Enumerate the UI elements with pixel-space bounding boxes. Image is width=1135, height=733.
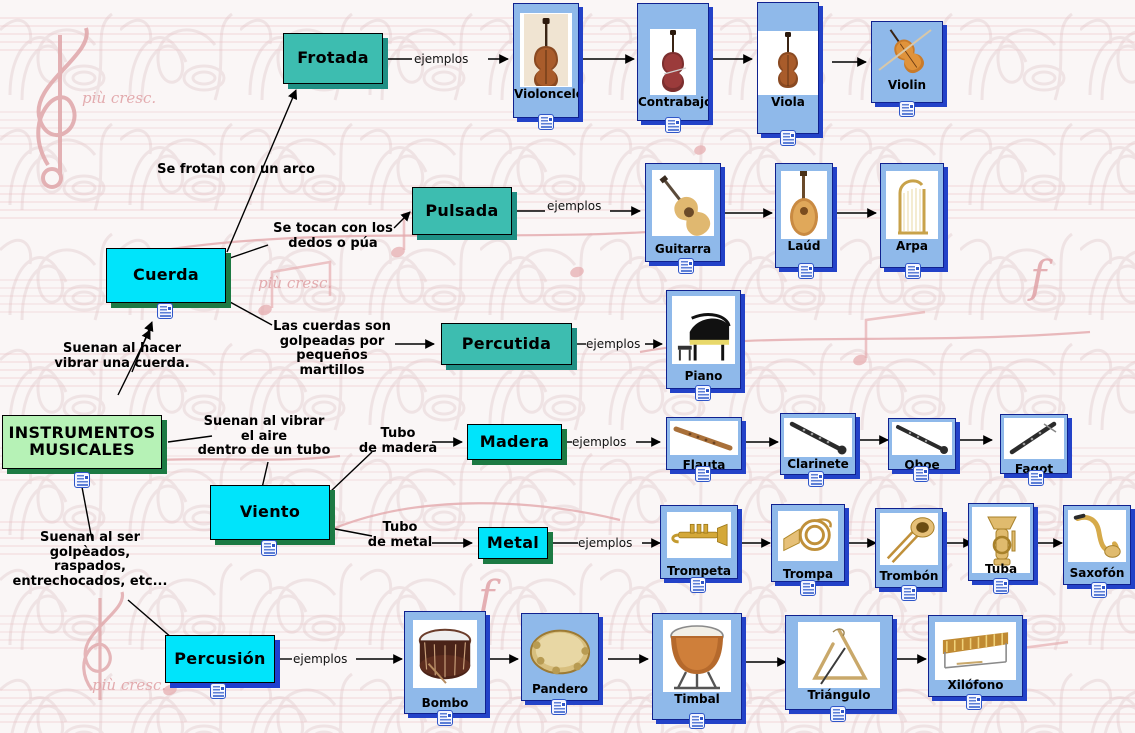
link-label-aire: Suenan al vibrar el aire dentro de un tu… — [196, 415, 332, 459]
flute-image — [670, 421, 738, 455]
card-caption: Timbal — [653, 692, 741, 708]
card-triangulo[interactable]: Triángulo — [785, 615, 893, 710]
card-flauta[interactable]: Flauta — [666, 417, 742, 470]
card-trombon[interactable]: Trombón — [875, 508, 943, 588]
harp-image — [886, 171, 938, 239]
node-frotada[interactable]: Frotada — [283, 33, 383, 84]
oboe-image — [892, 422, 952, 455]
node-label: Frotada — [293, 50, 373, 67]
svg-text:più cresc.: più cresc. — [92, 676, 166, 694]
link-label-percusion: Suenan al ser golpèados, raspados, entre… — [6, 531, 174, 589]
node-instrumentos-musicales[interactable]: INSTRUMENTOS MUSICALES — [2, 415, 162, 469]
note-document-icon[interactable] — [913, 466, 929, 482]
guitar-image — [652, 170, 714, 236]
note-document-icon[interactable] — [798, 263, 814, 279]
note-document-icon[interactable] — [74, 472, 90, 488]
card-caption: Saxofón — [1064, 566, 1130, 582]
card-trompeta[interactable]: Trompeta — [660, 505, 738, 579]
bass-drum-image — [413, 620, 477, 688]
note-document-icon[interactable] — [689, 713, 705, 729]
card-clarinete[interactable]: Clarinete — [780, 413, 856, 475]
card-caption: Tuba — [969, 562, 1033, 578]
note-document-icon[interactable] — [780, 130, 796, 146]
node-metal[interactable]: Metal — [478, 527, 548, 559]
note-document-icon[interactable] — [808, 471, 824, 487]
node-madera[interactable]: Madera — [467, 424, 562, 460]
node-percutida[interactable]: Percutida — [441, 323, 572, 365]
node-percusion[interactable]: Percusión — [165, 635, 275, 683]
note-document-icon[interactable] — [966, 694, 982, 710]
card-caption: Contrabajo — [638, 95, 708, 111]
note-document-icon[interactable] — [261, 540, 277, 556]
trombone-image — [880, 513, 938, 565]
card-trompa[interactable]: Trompa — [771, 504, 845, 582]
node-label: INSTRUMENTOS MUSICALES — [3, 425, 161, 459]
note-document-icon[interactable] — [690, 577, 706, 593]
double-bass-image — [650, 29, 696, 95]
note-document-icon[interactable] — [993, 578, 1009, 594]
node-label: Metal — [483, 535, 543, 552]
svg-text:più cresc.: più cresc. — [82, 89, 156, 107]
violoncello-image — [520, 13, 572, 87]
card-caption: Xilófono — [929, 678, 1022, 694]
concept-map-canvas: più cresc. più cresc. più cresc. cresc. … — [0, 0, 1135, 733]
card-caption: Violin — [872, 78, 942, 94]
card-arpa[interactable]: Arpa — [880, 163, 944, 268]
note-document-icon[interactable] — [437, 710, 453, 726]
link-label-martillos: Las cuerdas son golpeadas por pequeños m… — [262, 320, 402, 378]
card-viola[interactable]: Viola — [757, 2, 819, 134]
card-guitarra[interactable]: Guitarra — [645, 163, 721, 262]
card-caption: Triángulo — [786, 688, 892, 704]
note-document-icon[interactable] — [899, 101, 915, 117]
card-contrabajo[interactable]: Contrabajo — [637, 3, 709, 121]
grand-piano-image — [672, 296, 735, 364]
link-label-cuerda: Suenan al hacer vibrar una cuerda. — [52, 342, 192, 371]
ejemplos-label-percutida: ejemplos — [586, 337, 640, 351]
note-document-icon[interactable] — [551, 699, 567, 715]
card-caption: Violoncelo — [514, 87, 578, 103]
card-laud[interactable]: Laúd — [775, 163, 833, 268]
ejemplos-label-frotada: ejemplos — [414, 52, 468, 66]
link-label-arco: Se frotan con un arco — [156, 163, 316, 178]
ejemplos-label-metal: ejemplos — [578, 536, 632, 550]
triangle-instrument-image — [798, 622, 880, 688]
card-caption: Pandero — [522, 682, 598, 698]
saxophone-image — [1068, 510, 1126, 562]
card-caption: Trombón — [876, 569, 942, 585]
note-document-icon[interactable] — [901, 585, 917, 601]
card-xilofono[interactable]: Xilófono — [928, 615, 1023, 697]
card-caption: Viola — [758, 95, 818, 111]
card-timbal[interactable]: Timbal — [652, 613, 742, 720]
node-label: Pulsada — [421, 203, 502, 220]
note-document-icon[interactable] — [157, 303, 173, 319]
node-viento[interactable]: Viento — [210, 485, 330, 540]
card-violoncelo[interactable]: Violoncelo — [513, 3, 579, 118]
note-document-icon[interactable] — [538, 114, 554, 130]
note-document-icon[interactable] — [665, 117, 681, 133]
card-saxofon[interactable]: Saxofón — [1063, 505, 1131, 585]
node-cuerda[interactable]: Cuerda — [106, 248, 226, 303]
trumpet-image — [667, 512, 731, 558]
node-label: Cuerda — [129, 267, 203, 284]
french-horn-image — [778, 511, 838, 561]
card-caption: Arpa — [881, 239, 943, 255]
ejemplos-label-madera: ejemplos — [572, 435, 626, 449]
timpani-image — [663, 620, 731, 692]
lute-image — [781, 171, 827, 239]
svg-text:f: f — [1027, 252, 1053, 303]
link-label-tubo-metal: Tubo de metal — [362, 521, 438, 550]
card-fagot[interactable]: Fagot — [1000, 414, 1068, 474]
card-pandero[interactable]: Pandero — [521, 613, 599, 701]
node-label: Viento — [236, 504, 304, 521]
card-oboe[interactable]: Oboe — [888, 418, 956, 470]
node-pulsada[interactable]: Pulsada — [412, 187, 512, 235]
card-caption: Laúd — [776, 239, 832, 255]
tambourine-image — [527, 619, 593, 683]
ejemplos-label-pulsada: ejemplos — [547, 199, 601, 213]
note-document-icon[interactable] — [678, 258, 694, 274]
card-caption: Piano — [667, 369, 740, 385]
node-label: Madera — [476, 434, 554, 451]
card-piano[interactable]: Piano — [666, 290, 741, 389]
card-bombo[interactable]: Bombo — [404, 611, 486, 714]
card-caption: Guitarra — [646, 242, 720, 258]
note-document-icon[interactable] — [695, 385, 711, 401]
card-violin[interactable]: Violin — [871, 21, 943, 103]
card-tuba[interactable]: Tuba — [968, 503, 1034, 581]
violin-image — [872, 22, 942, 78]
note-document-icon[interactable] — [210, 683, 226, 699]
xylophone-image — [935, 622, 1016, 680]
ejemplos-label-percusion: ejemplos — [293, 652, 347, 666]
node-label: Percutida — [458, 336, 555, 353]
viola-image — [758, 31, 818, 95]
svg-text:più cresc.: più cresc. — [258, 274, 332, 292]
link-label-dedos: Se tocan con los dedos o púa — [258, 222, 408, 251]
note-document-icon[interactable] — [830, 706, 846, 722]
note-document-icon[interactable] — [695, 466, 711, 482]
note-document-icon[interactable] — [800, 580, 816, 596]
link-label-tubo-madera: Tubo de madera — [358, 427, 438, 456]
clarinet-image — [784, 418, 852, 457]
note-document-icon[interactable] — [1028, 470, 1044, 486]
node-label: Percusión — [170, 651, 269, 668]
bassoon-image — [1004, 418, 1064, 459]
note-document-icon[interactable] — [1091, 582, 1107, 598]
note-document-icon[interactable] — [905, 263, 921, 279]
